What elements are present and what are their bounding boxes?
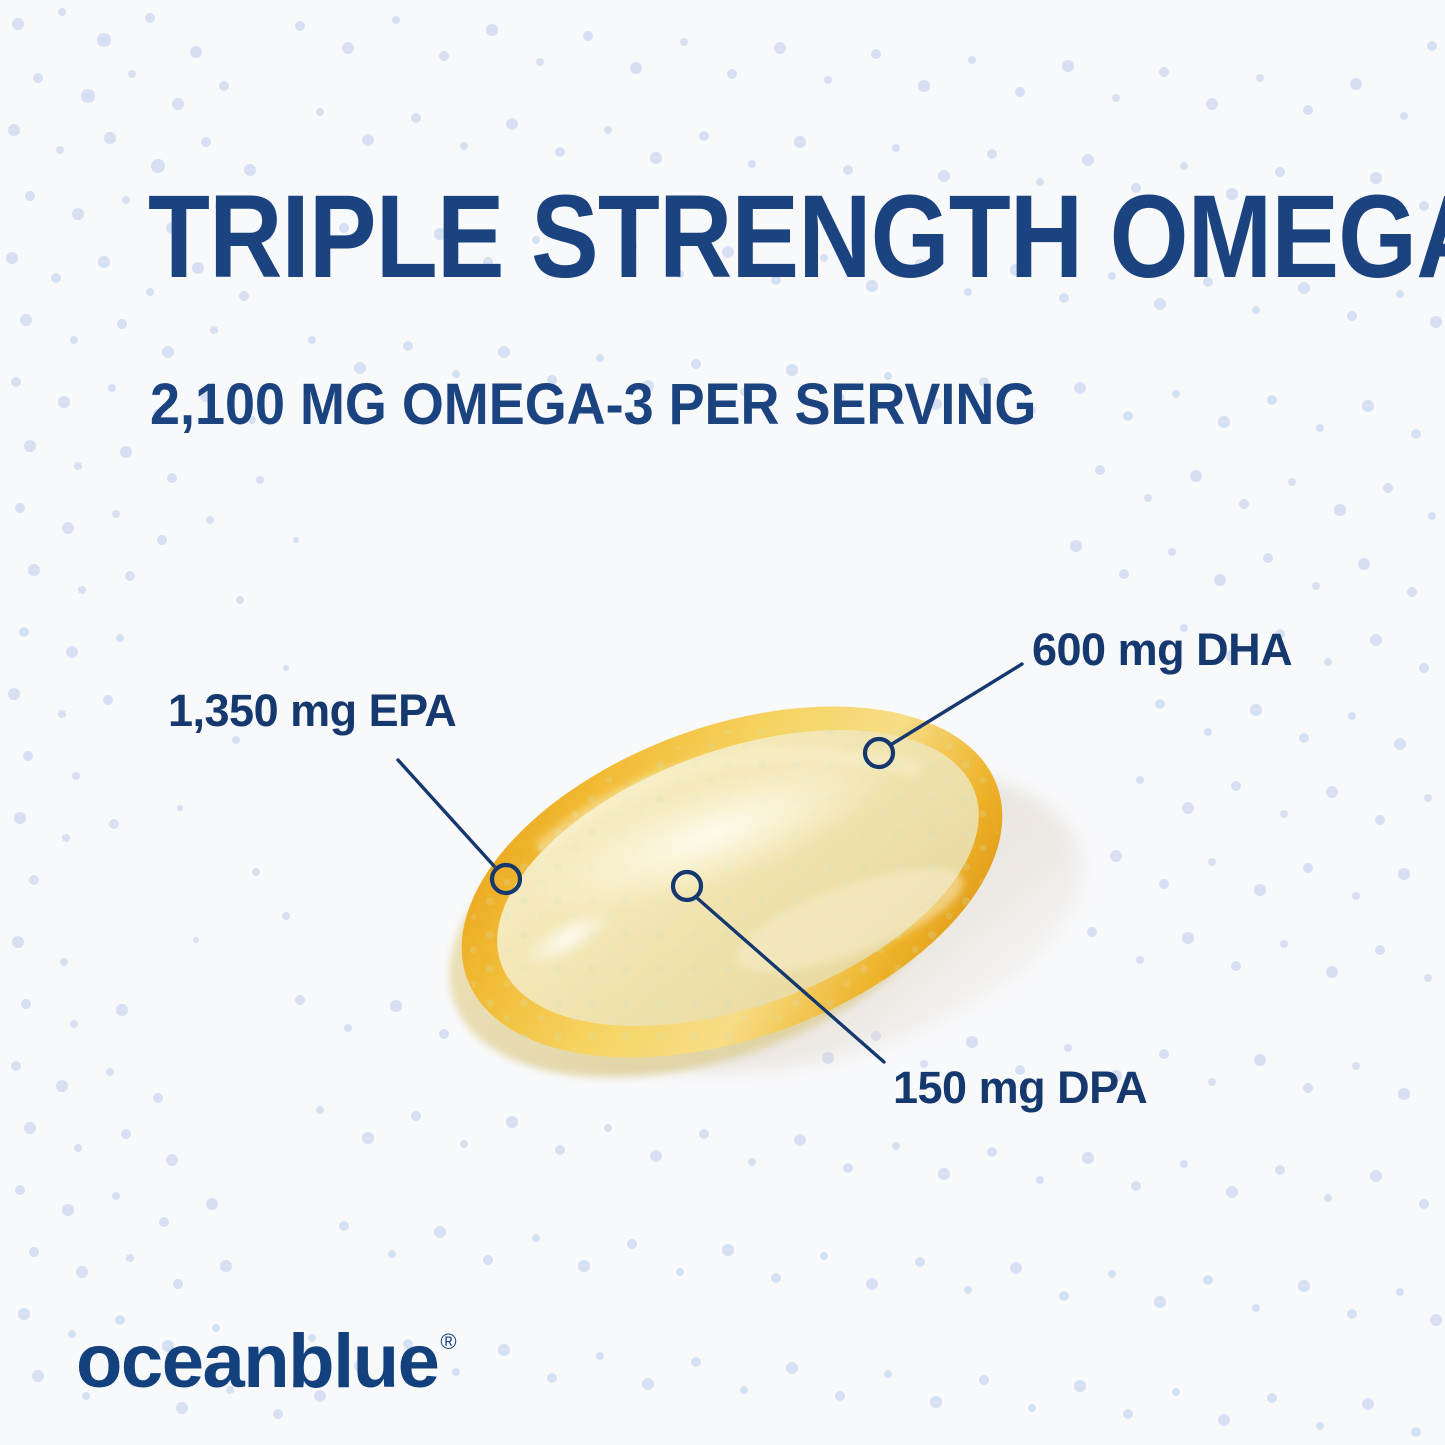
page-subtitle: 2,100 MG OMEGA-3 PER SERVING (150, 376, 1036, 434)
product-infographic: TRIPLE STRENGTH OMEGA-3 2,100 MG OMEGA-3… (0, 0, 1445, 1445)
callout-label-dha: 600 mg DHA (1032, 627, 1292, 672)
brand-name: oceanblue (76, 1327, 438, 1397)
callout-label-epa: 1,350 mg EPA (168, 688, 456, 733)
brand-logo: oceanblue® (76, 1327, 457, 1397)
softgel-capsule-image (380, 620, 1100, 1100)
page-title: TRIPLE STRENGTH OMEGA-3 (148, 178, 1146, 296)
callout-label-dpa: 150 mg DPA (893, 1065, 1147, 1110)
registered-trademark-icon: ® (440, 1331, 456, 1353)
